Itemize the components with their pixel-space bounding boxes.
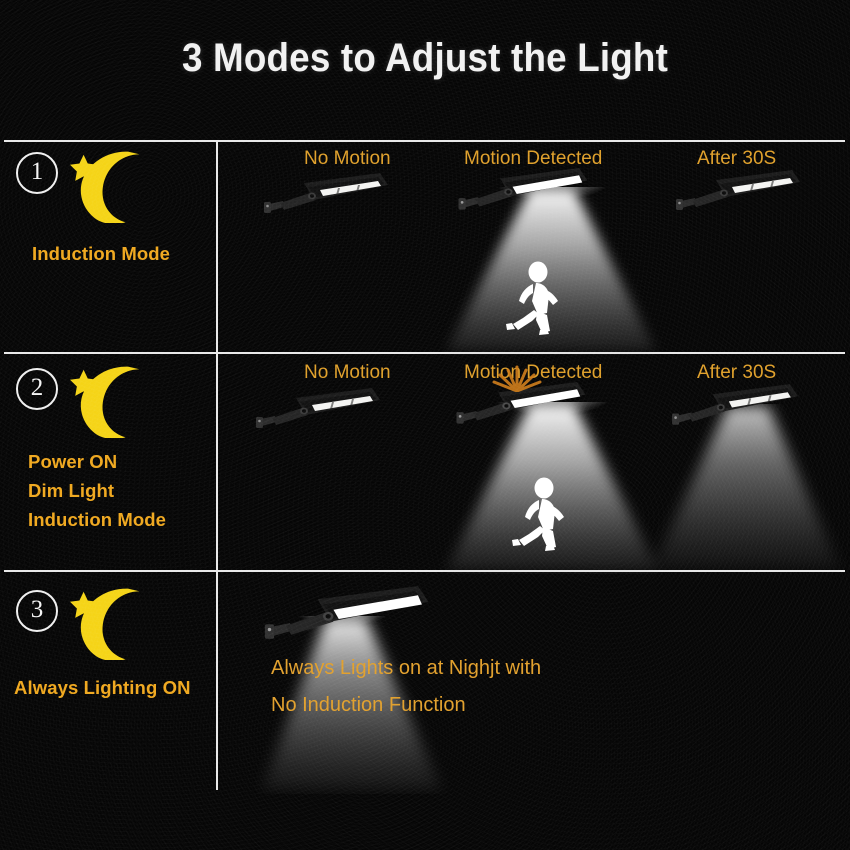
mode-3-text: Always Lighting ON	[14, 673, 191, 702]
moon-star-icon	[62, 582, 142, 660]
mode-1-number: 1	[16, 152, 58, 194]
solar-lamp-no-motion	[262, 173, 392, 223]
modes-grid: 1 Induction Mode No Motion Motion Detect…	[4, 140, 845, 790]
solar-lamp-motion-detected	[454, 382, 590, 434]
running-person-icon-row1	[496, 260, 568, 336]
column-header-after-30s: After 30S	[697, 362, 776, 384]
solar-lamp-after-30s	[674, 170, 804, 220]
solar-lamp-always-on	[262, 586, 434, 652]
column-header-no-motion: No Motion	[304, 148, 391, 170]
row-3-divider	[216, 572, 218, 790]
column-header-no-motion: No Motion	[304, 362, 391, 384]
mode-2-number: 2	[16, 368, 58, 410]
mode-3-label-panel: 3 Always Lighting ON	[4, 572, 216, 790]
row-2-divider	[216, 354, 218, 570]
moon-star-icon	[62, 145, 142, 223]
column-header-motion-detected: Motion Detected	[464, 148, 602, 170]
row-1-divider	[216, 142, 218, 352]
mode-2-text: Power ON Dim Light Induction Mode	[28, 447, 166, 534]
mode-row-2: 2 Power ON Dim Light Induction Mode No M…	[4, 354, 845, 572]
solar-lamp-no-motion	[254, 388, 384, 438]
mode-1-label-panel: 1 Induction Mode	[4, 142, 216, 352]
moon-star-icon	[62, 360, 142, 438]
solar-lamp-motion-detected	[456, 168, 592, 220]
mode-3-number: 3	[16, 590, 58, 632]
mode-row-1: 1 Induction Mode No Motion Motion Detect…	[4, 142, 845, 354]
mode-2-label-panel: 2 Power ON Dim Light Induction Mode	[4, 354, 216, 570]
column-header-motion-detected: Motion Detected	[464, 362, 602, 384]
column-header-after-30s: After 30S	[697, 148, 776, 170]
solar-lamp-after-30s	[670, 384, 802, 435]
mode-1-text: Induction Mode	[32, 239, 170, 268]
mode-row-3: 3 Always Lighting ON	[4, 572, 845, 790]
running-person-icon-row2	[502, 476, 574, 552]
page-title: 3 Modes to Adjust the Light	[34, 36, 816, 81]
always-on-note: Always Lights on at Nighjt with No Induc…	[271, 650, 541, 724]
